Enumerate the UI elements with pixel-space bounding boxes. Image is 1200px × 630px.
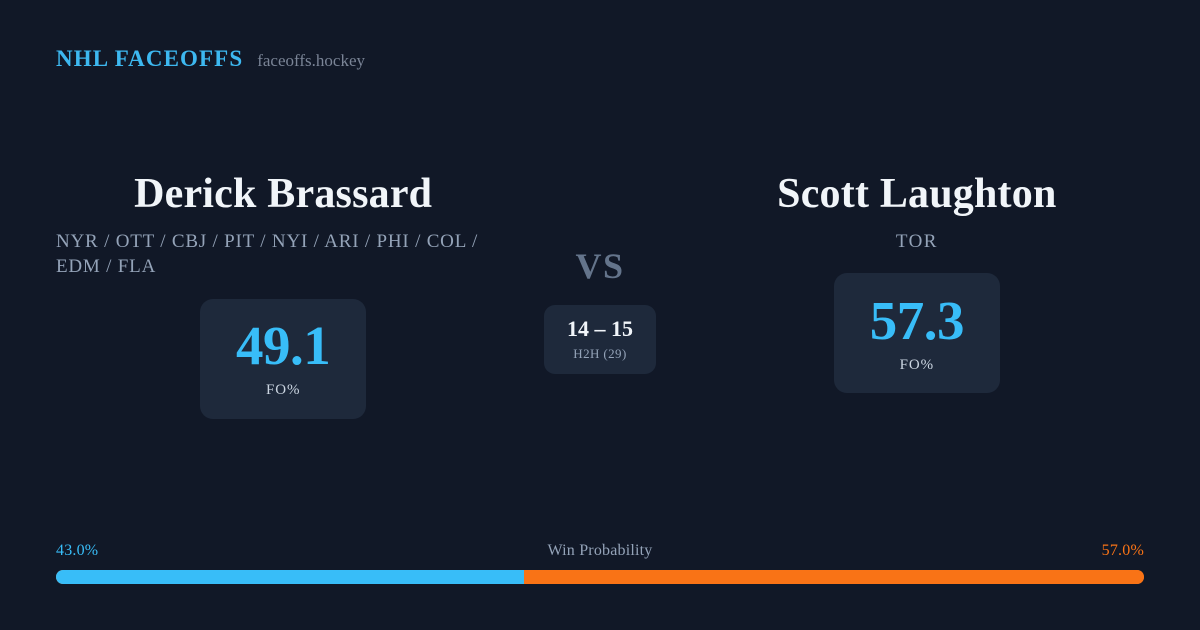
player-right-faceoff-value: 57.3 xyxy=(870,293,964,348)
player-left-faceoff-label: FO% xyxy=(266,382,300,399)
head-to-head-card: 14 – 15 H2H (29) xyxy=(544,305,656,374)
player-left-faceoff-card: 49.1 FO% xyxy=(200,299,366,419)
player-right-faceoff-card: 57.3 FO% xyxy=(834,273,1000,393)
matchup-section: Derick Brassard NYR / OTT / CBJ / PIT / … xyxy=(0,170,1200,419)
win-probability-bar-right-fill xyxy=(524,570,1144,584)
vs-label: VS xyxy=(575,248,624,284)
head-to-head-label: H2H (29) xyxy=(573,346,626,362)
site-domain: faceoffs.hockey xyxy=(257,51,365,71)
brand-title: NHL FACEOFFS xyxy=(56,46,243,72)
head-to-head-record: 14 – 15 xyxy=(567,318,633,340)
site-header: NHL FACEOFFS faceoffs.hockey xyxy=(56,46,365,72)
win-probability-left-value: 43.0% xyxy=(56,542,98,560)
win-probability-section: 43.0% Win Probability 57.0% xyxy=(56,542,1144,584)
player-right-teams: TOR xyxy=(690,229,1144,255)
player-left-faceoff-value: 49.1 xyxy=(236,318,330,373)
player-right-name: Scott Laughton xyxy=(777,170,1056,220)
player-right: Scott Laughton TOR 57.3 FO% xyxy=(690,170,1144,393)
player-right-faceoff-label: FO% xyxy=(900,357,934,374)
win-probability-title: Win Probability xyxy=(547,542,652,560)
player-left-teams: NYR / OTT / CBJ / PIT / NYI / ARI / PHI … xyxy=(56,229,510,280)
player-left: Derick Brassard NYR / OTT / CBJ / PIT / … xyxy=(56,170,510,419)
win-probability-bar xyxy=(56,570,1144,584)
win-probability-right-value: 57.0% xyxy=(1102,542,1144,560)
versus-block: VS 14 – 15 H2H (29) xyxy=(510,170,689,374)
player-left-name: Derick Brassard xyxy=(134,170,432,220)
win-probability-labels: 43.0% Win Probability 57.0% xyxy=(56,542,1144,560)
win-probability-bar-left-fill xyxy=(56,570,524,584)
share-card-root: NHL FACEOFFS faceoffs.hockey Derick Bras… xyxy=(0,0,1200,630)
